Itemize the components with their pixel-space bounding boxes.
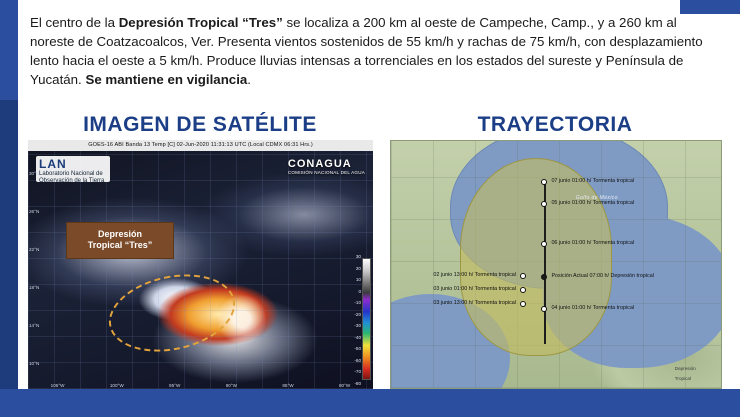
forecast-point-label: 06 junio 01:00 h/ Tormenta tropical bbox=[551, 241, 634, 247]
bottom-wave bbox=[0, 389, 740, 417]
colorbar-tick: -30 bbox=[339, 323, 361, 328]
storm-callout-line-1: Tropical “Tres” bbox=[71, 240, 169, 251]
summary-emphasis: Se mantiene en vigilancia bbox=[85, 72, 247, 87]
forecast-cone bbox=[460, 158, 612, 356]
colorbar-tick: -60 bbox=[339, 358, 361, 363]
forecast-point bbox=[541, 179, 547, 185]
bottom-blue-band bbox=[0, 389, 740, 417]
longitude-tick: 85°W bbox=[282, 383, 293, 388]
forecast-point bbox=[520, 273, 526, 279]
longitude-axis-labels: 105°W100°W95°W90°W85°W80°W bbox=[28, 380, 373, 388]
summary-paragraph: El centro de la Depresión Tropical “Tres… bbox=[30, 14, 720, 90]
lan-logo: LAN Laboratorio Nacional de Observación … bbox=[36, 156, 110, 182]
colorbar-tick: 0 bbox=[339, 289, 361, 294]
colorbar-tick: 30 bbox=[339, 254, 361, 259]
satellite-image-panel: GOES-16 ABI Banda 13 Temp [C] 02-Jun-202… bbox=[28, 140, 373, 389]
storm-callout-line-0: Depresión bbox=[71, 229, 169, 240]
longitude-tick: 105°W bbox=[51, 383, 65, 388]
longitude-tick: 80°W bbox=[339, 383, 350, 388]
summary-text: . bbox=[247, 72, 251, 87]
colorbar-tick: 10 bbox=[339, 277, 361, 282]
forecast-point-label: 03 junio 13:00 h/ Tormenta tropical bbox=[433, 301, 516, 307]
latitude-tick: 22°N bbox=[29, 247, 41, 252]
latitude-tick: 26°N bbox=[29, 209, 41, 214]
forecast-point bbox=[541, 241, 547, 247]
forecast-point-label: 05 junio 01:00 h/ Tormenta tropical bbox=[551, 201, 634, 207]
forecast-point bbox=[541, 274, 547, 280]
conagua-logo-text: CONAGUA bbox=[288, 158, 352, 170]
trajectory-panel-title: TRAYECTORIA bbox=[390, 113, 720, 137]
colorbar-tick: -50 bbox=[339, 346, 361, 351]
latitude-tick: 30°N bbox=[29, 171, 41, 176]
forecast-point-label: 02 junio 13:00 h/ Tormenta tropical bbox=[433, 273, 516, 279]
longitude-tick: 95°W bbox=[169, 383, 180, 388]
satellite-metadata-strip: GOES-16 ABI Banda 13 Temp [C] 02-Jun-202… bbox=[28, 140, 373, 151]
latitude-tick: 14°N bbox=[29, 323, 41, 328]
forecast-point-label: 04 junio 01:00 h/ Tormenta tropical bbox=[551, 306, 634, 312]
forecast-point bbox=[541, 201, 547, 207]
lan-logo-subtitle: Laboratorio Nacional de Observación de l… bbox=[39, 171, 107, 184]
colorbar-tick-labels: 3020100-10-20-30-40-50-60-70-80 bbox=[339, 254, 361, 386]
lan-logo-text: LAN bbox=[39, 158, 107, 171]
latitude-axis-labels: 30°N26°N22°N18°N14°N10°N bbox=[29, 154, 41, 382]
colorbar-tick: -10 bbox=[339, 300, 361, 305]
colorbar-tick: -40 bbox=[339, 335, 361, 340]
left-blue-bar bbox=[0, 0, 18, 417]
conagua-logo-subtitle: COMISIÓN NACIONAL DEL AGUA bbox=[288, 170, 365, 175]
longitude-tick: 90°W bbox=[226, 383, 237, 388]
trajectory-map-panel: Golfo de México 07 junio 01:00 h/ Tormen… bbox=[390, 140, 722, 389]
conagua-logo: CONAGUA COMISIÓN NACIONAL DEL AGUA bbox=[288, 158, 365, 175]
colorbar-tick: -20 bbox=[339, 312, 361, 317]
summary-emphasis: Depresión Tropical “Tres” bbox=[119, 15, 283, 30]
storm-callout-label: DepresiónTropical “Tres” bbox=[66, 222, 174, 259]
forecast-point-label: 03 junio 01:00 h/ Tormenta tropical bbox=[433, 288, 516, 294]
longitude-tick: 100°W bbox=[110, 383, 124, 388]
latitude-tick: 10°N bbox=[29, 361, 41, 366]
temperature-colorbar bbox=[362, 258, 371, 380]
summary-text: El centro de la bbox=[30, 15, 119, 30]
top-right-accent bbox=[680, 0, 740, 14]
latitude-tick: 18°N bbox=[29, 285, 41, 290]
colorbar-tick: -70 bbox=[339, 369, 361, 374]
city-label: Tropical bbox=[675, 376, 691, 381]
forecast-point-label: 07 junio 01:00 h/ Tormenta tropical bbox=[551, 179, 634, 185]
forecast-point bbox=[520, 287, 526, 293]
forecast-point bbox=[520, 301, 526, 307]
forecast-point-label: Posición Actual 07:00 h/ Depresión tropi… bbox=[551, 274, 653, 280]
satellite-panel-title: IMAGEN DE SATÉLITE bbox=[40, 113, 360, 137]
city-label: Depresión bbox=[675, 366, 696, 371]
colorbar-tick: 20 bbox=[339, 266, 361, 271]
forecast-point bbox=[541, 306, 547, 312]
